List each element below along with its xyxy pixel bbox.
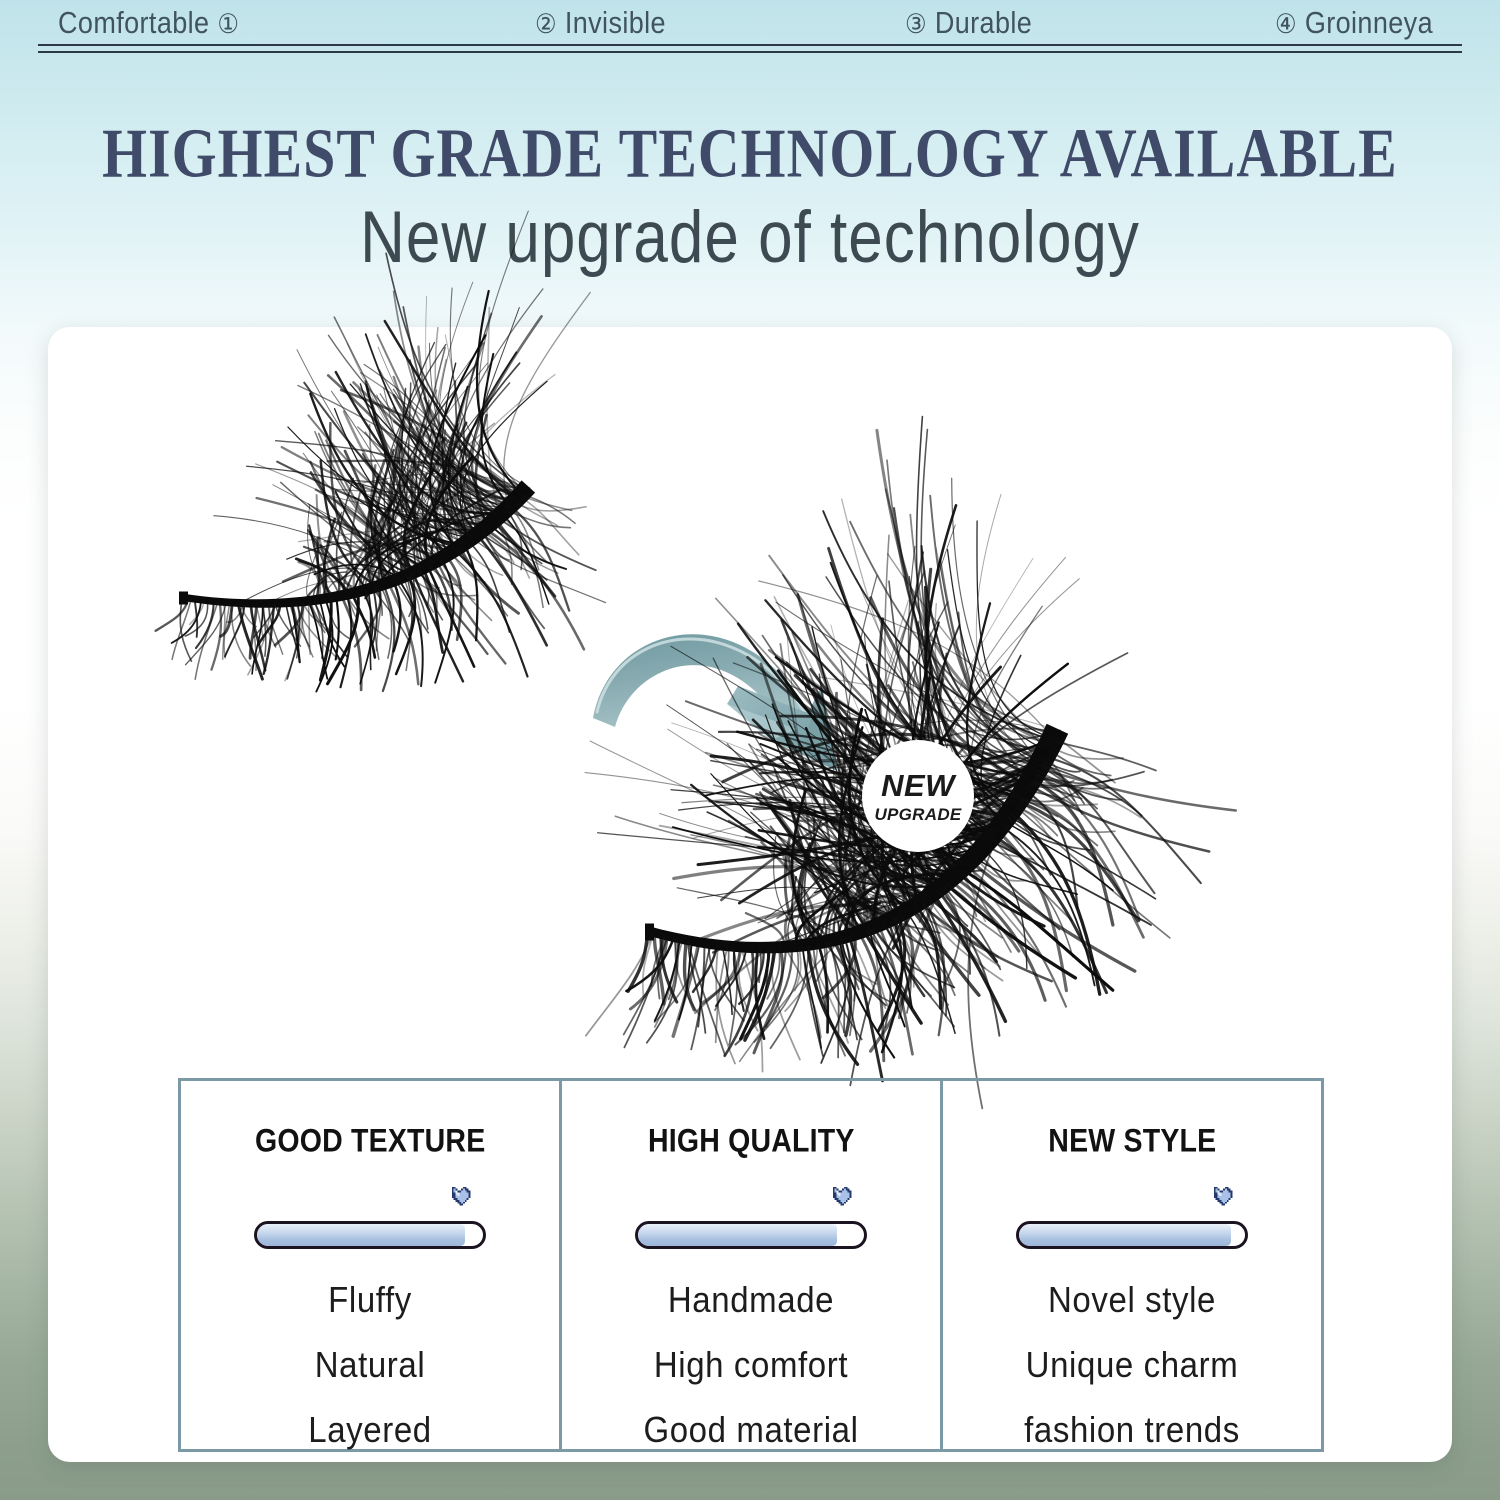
top-item-label: Groinneya bbox=[1305, 6, 1433, 40]
heart-icon bbox=[448, 1185, 478, 1213]
circled-number-3-icon: ③ bbox=[905, 9, 927, 39]
heart-icon bbox=[1210, 1185, 1240, 1213]
rating-bar-group bbox=[254, 1185, 486, 1255]
top-item-label: Invisible bbox=[565, 6, 666, 40]
rating-bar bbox=[635, 1221, 867, 1249]
top-item-label: Durable bbox=[935, 6, 1032, 40]
circled-number-4-icon: ④ bbox=[1275, 9, 1297, 39]
feature-line: Fluffy bbox=[328, 1279, 412, 1321]
divider-line-bottom bbox=[38, 51, 1462, 53]
feature-line: Natural bbox=[315, 1344, 426, 1386]
top-feature-bar: Comfortable ① ② Invisible ③ Durable ④ Gr… bbox=[0, 0, 1500, 58]
top-item-durable: ③ Durable bbox=[905, 6, 1032, 41]
feature-header: HIGH QUALITY bbox=[648, 1122, 855, 1160]
feature-header: GOOD TEXTURE bbox=[255, 1122, 485, 1160]
rating-bar-group bbox=[1016, 1185, 1248, 1255]
feature-column-good-texture: GOOD TEXTURE Fluffy Natural Layered bbox=[181, 1081, 559, 1449]
feature-table: GOOD TEXTURE Fluffy Natural Layered HIGH… bbox=[178, 1078, 1324, 1452]
circled-number-1-icon: ① bbox=[217, 9, 239, 39]
badge-line-upgrade: UPGRADE bbox=[874, 806, 961, 823]
product-infographic: Comfortable ① ② Invisible ③ Durable ④ Gr… bbox=[0, 0, 1500, 1500]
feature-line: Handmade bbox=[668, 1279, 834, 1321]
rating-bar-fill bbox=[638, 1224, 837, 1246]
rating-bar-fill bbox=[257, 1224, 465, 1246]
feature-column-new-style: NEW STYLE Novel style Unique charm fashi… bbox=[940, 1081, 1321, 1449]
badge-line-new: NEW bbox=[881, 770, 955, 801]
top-item-label: Comfortable bbox=[58, 6, 209, 40]
feature-line: fashion trends bbox=[1024, 1409, 1240, 1451]
feature-line: Novel style bbox=[1048, 1279, 1216, 1321]
top-item-comfortable: Comfortable ① bbox=[58, 6, 239, 41]
feature-line: Unique charm bbox=[1026, 1344, 1239, 1386]
rating-bar-group bbox=[635, 1185, 867, 1255]
divider-line-top bbox=[38, 44, 1462, 46]
new-upgrade-badge: NEW UPGRADE bbox=[862, 740, 974, 852]
heart-icon bbox=[829, 1185, 859, 1213]
feature-line: Layered bbox=[308, 1409, 431, 1451]
top-item-groinneya: ④ Groinneya bbox=[1275, 6, 1433, 41]
header-divider bbox=[38, 44, 1462, 56]
rating-bar bbox=[254, 1221, 486, 1249]
page-subtitle: New upgrade of technology bbox=[0, 196, 1500, 280]
feature-column-high-quality: HIGH QUALITY Handmade High comfort Good … bbox=[559, 1081, 940, 1449]
rating-bar bbox=[1016, 1221, 1248, 1249]
circled-number-2-icon: ② bbox=[535, 9, 557, 39]
feature-line: Good material bbox=[643, 1409, 858, 1451]
page-title: HIGHEST GRADE TECHNOLOGY AVAILABLE bbox=[53, 115, 1448, 195]
feature-header: NEW STYLE bbox=[1048, 1122, 1216, 1160]
feature-line: High comfort bbox=[654, 1344, 848, 1386]
rating-bar-fill bbox=[1019, 1224, 1231, 1246]
top-item-invisible: ② Invisible bbox=[535, 6, 666, 41]
